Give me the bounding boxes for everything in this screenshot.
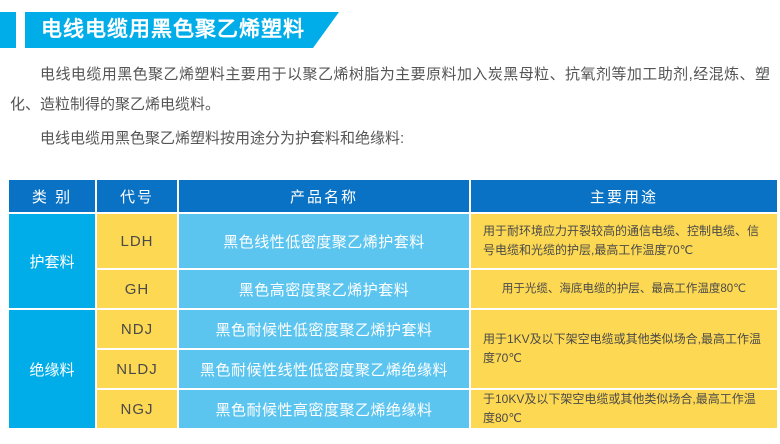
product-table: 类 别 代号 产品名称 主要用途 护套料 LDH 黑色线性低密度聚乙烯护套料 用… bbox=[7, 178, 779, 430]
table-cell-product: 黑色耐候性低密度聚乙烯护套料 bbox=[179, 310, 469, 348]
table-cell-code: NLDJ bbox=[97, 350, 177, 388]
table-cell-usage: 用于1KV及以下架空电缆或其他类似场合,最高工作温度70℃ bbox=[471, 310, 777, 388]
table-head: 类 别 代号 产品名称 主要用途 bbox=[9, 180, 777, 212]
title-banner-shape: 电线电缆用黑色聚乙烯塑料 bbox=[25, 12, 339, 48]
table-cell-product: 黑色耐候性高密度聚乙烯绝缘料 bbox=[179, 390, 469, 428]
intro-paragraph-2: 电线电缆用黑色聚乙烯塑料按用途分为护套料和绝缘料: bbox=[10, 124, 770, 154]
table-body: 护套料 LDH 黑色线性低密度聚乙烯护套料 用于耐环境应力开裂较高的通信电缆、控… bbox=[9, 214, 777, 428]
table-row: 绝缘料 NDJ 黑色耐候性低密度聚乙烯护套料 用于1KV及以下架空电缆或其他类似… bbox=[9, 310, 777, 348]
table-header-category: 类 别 bbox=[9, 180, 95, 212]
page-title: 电线电缆用黑色聚乙烯塑料 bbox=[41, 12, 305, 48]
table-header-row: 类 别 代号 产品名称 主要用途 bbox=[9, 180, 777, 212]
table-header-product: 产品名称 bbox=[179, 180, 469, 212]
table-row: NGJ 黑色耐候性高密度聚乙烯绝缘料 于10KV及以下架空电缆或其他类似场合,最… bbox=[9, 390, 777, 428]
table-cell-product: 黑色高密度聚乙烯护套料 bbox=[179, 270, 469, 308]
table-row: 护套料 LDH 黑色线性低密度聚乙烯护套料 用于耐环境应力开裂较高的通信电缆、控… bbox=[9, 214, 777, 268]
table-cell-category: 护套料 bbox=[9, 214, 95, 308]
table-row: GH 黑色高密度聚乙烯护套料 用于光缆、海底电缆的护层、最高工作温度80℃ bbox=[9, 270, 777, 308]
table-cell-product: 黑色线性低密度聚乙烯护套料 bbox=[179, 214, 469, 268]
intro-paragraph-1: 电线电缆用黑色聚乙烯塑料主要用于以聚乙烯树脂为主要原料加入炭黑母粒、抗氧剂等加工… bbox=[10, 60, 770, 120]
title-accent-tab bbox=[0, 12, 16, 48]
table-cell-code: LDH bbox=[97, 214, 177, 268]
table-header-code: 代号 bbox=[97, 180, 177, 212]
page-title-banner: 电线电缆用黑色聚乙烯塑料 bbox=[0, 12, 339, 48]
table-cell-code: GH bbox=[97, 270, 177, 308]
table-cell-code: NGJ bbox=[97, 390, 177, 428]
table-header-usage: 主要用途 bbox=[471, 180, 777, 212]
table-cell-product: 黑色耐候性线性低密度聚乙烯绝缘料 bbox=[179, 350, 469, 388]
table-cell-usage: 用于光缆、海底电缆的护层、最高工作温度80℃ bbox=[471, 270, 777, 308]
table-cell-category: 绝缘料 bbox=[9, 310, 95, 428]
table-cell-usage: 于10KV及以下架空电缆或其他类似场合,最高工作温度80℃ bbox=[471, 390, 777, 428]
table-cell-code: NDJ bbox=[97, 310, 177, 348]
table-cell-usage: 用于耐环境应力开裂较高的通信电缆、控制电缆、信号电缆和光缆的护层,最高工作温度7… bbox=[471, 214, 777, 268]
title-gap bbox=[16, 12, 25, 48]
